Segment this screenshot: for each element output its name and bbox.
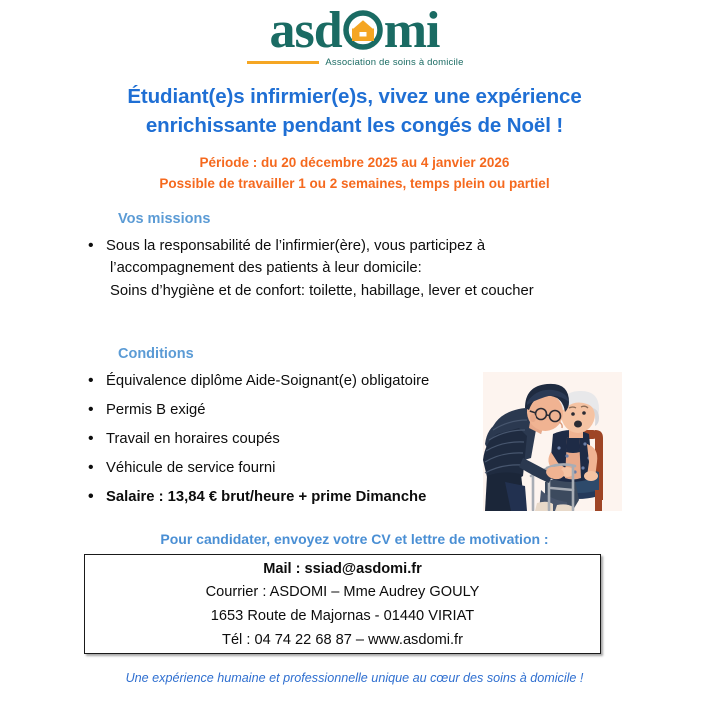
footer-tagline: Une expérience humaine et professionnell…	[0, 671, 709, 685]
condition-text-3: Travail en horaires coupés	[106, 431, 280, 447]
mission-text-2: l’accompagnement des patients à leur dom…	[110, 260, 422, 276]
period-line-1: Période : du 20 décembre 2025 au 4 janvi…	[30, 152, 679, 173]
period-block: Période : du 20 décembre 2025 au 4 janvi…	[30, 152, 679, 195]
condition-text-1: Équivalence diplôme Aide-Soignant(e) obl…	[106, 373, 429, 389]
list-item: Salaire : 13,84 € brut/heure + prime Dim…	[84, 486, 484, 508]
page-title: Étudiant(e)s infirmier(e)s, vivez une ex…	[40, 82, 669, 140]
logo-orange-rule	[247, 61, 319, 64]
headline-line-2: enrichissante pendant les congés de Noël…	[40, 111, 669, 140]
logo-text-part1: asd	[270, 5, 342, 57]
logo-wordmark: asd mi	[270, 6, 440, 54]
call-to-action-text: Pour candidater, envoyez votre CV et let…	[0, 531, 709, 547]
headline-line-1: Étudiant(e)s infirmier(e)s, vivez une ex…	[40, 82, 669, 111]
condition-text-2: Permis B exigé	[106, 402, 206, 418]
contact-mail[interactable]: Mail : ssiad@asdomi.fr	[263, 558, 422, 582]
contact-box: Mail : ssiad@asdomi.fr Courrier : ASDOMI…	[84, 554, 601, 654]
period-line-2: Possible de travailler 1 ou 2 semaines, …	[30, 173, 679, 194]
brand-logo: asd mi Association de soins à domicile	[0, 6, 709, 68]
conditions-list: Équivalence diplôme Aide-Soignant(e) obl…	[84, 370, 484, 515]
caregiver-elderly-illustration	[483, 372, 622, 511]
logo-text-part2: mi	[384, 5, 440, 57]
contact-phone-website[interactable]: Tél : 04 74 22 68 87 – www.asdomi.fr	[222, 629, 463, 653]
list-item: Permis B exigé	[84, 399, 484, 421]
poster-page: asd mi Association de soins à domicile É…	[0, 0, 709, 709]
list-item: l’accompagnement des patients à leur dom…	[84, 257, 604, 279]
mission-text-1: Sous la responsabilité de l’infirmier(èr…	[106, 238, 485, 254]
contact-address: 1653 Route de Majornas - 01440 VIRIAT	[211, 605, 474, 629]
list-item: Équivalence diplôme Aide-Soignant(e) obl…	[84, 370, 484, 392]
list-item: Sous la responsabilité de l’infirmier(èr…	[84, 235, 604, 257]
condition-text-salary: Salaire : 13,84 € brut/heure + prime Dim…	[106, 489, 426, 505]
list-item: Soins d’hygiène et de confort: toilette,…	[84, 280, 604, 302]
list-item: Véhicule de service fourni	[84, 457, 484, 479]
missions-list: Sous la responsabilité de l’infirmier(èr…	[84, 235, 604, 302]
missions-heading: Vos missions	[118, 211, 210, 227]
list-item: Travail en horaires coupés	[84, 428, 484, 450]
mission-text-3: Soins d’hygiène et de confort: toilette,…	[110, 283, 534, 299]
contact-courrier: Courrier : ASDOMI – Mme Audrey GOULY	[206, 581, 480, 605]
conditions-heading: Conditions	[118, 346, 194, 362]
condition-text-4: Véhicule de service fourni	[106, 460, 275, 476]
house-in-circle-icon	[343, 10, 383, 50]
